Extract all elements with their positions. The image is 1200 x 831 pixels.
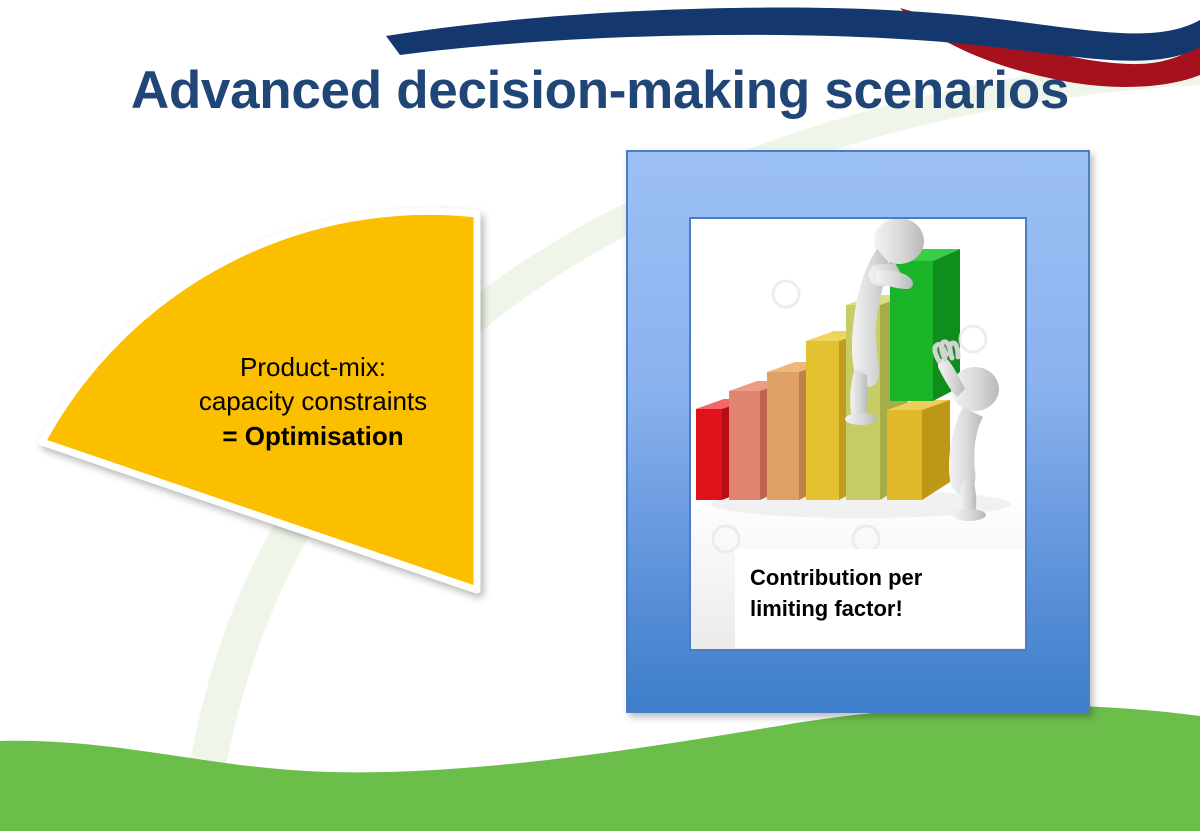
bar-6-gold-short — [887, 400, 950, 500]
caption-line-2: limiting factor! — [750, 593, 1025, 624]
page-title: Advanced decision-making scenarios — [0, 63, 1200, 119]
callout-text-block: Product-mix: capacity constraints = Opti… — [148, 350, 478, 453]
navy-swoosh — [386, 8, 1200, 61]
caption-box: Contribution per limiting factor! — [735, 549, 1025, 648]
callout-line-1: Product-mix: — [148, 350, 478, 384]
callout-line-2: capacity constraints — [148, 384, 478, 418]
presentation-slide: Advanced decision-making scenarios Produ… — [0, 0, 1200, 831]
caption-line-1: Contribution per — [750, 562, 1025, 593]
pie-wedge-callout: Product-mix: capacity constraints = Opti… — [28, 200, 498, 610]
callout-line-3: = Optimisation — [148, 419, 478, 453]
bottom-green-wave — [0, 705, 1200, 831]
